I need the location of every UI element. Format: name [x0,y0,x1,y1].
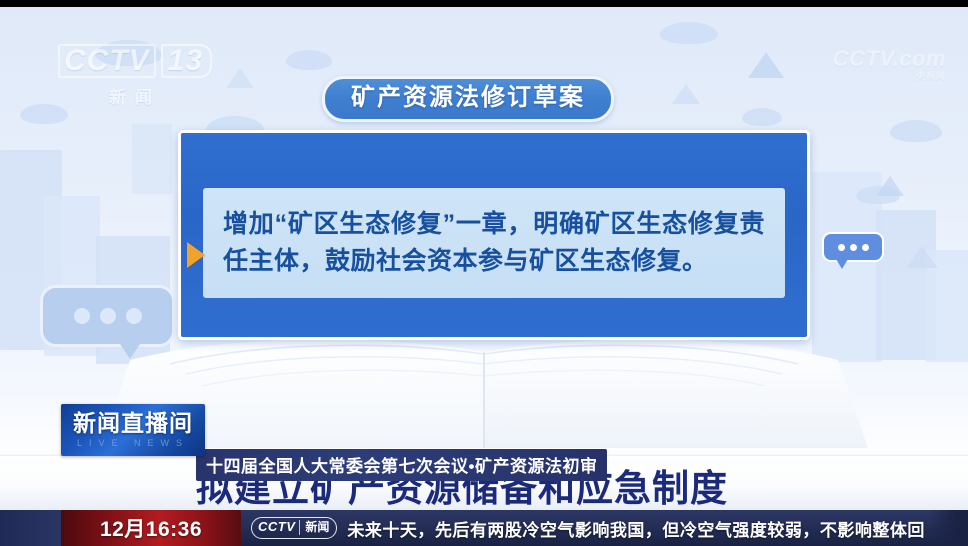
timestamp-label: 12月16:36 [100,513,202,543]
news-ticker: CCTV 新闻 未来十天，先后有两股冷空气影响我国，但冷空气强度较弱，不影响整体… [241,510,968,546]
time-bar-left-spacer [0,510,61,546]
cctv-com-wordmark: CCTV [833,46,893,71]
bubble-dot [126,308,142,324]
bubble-dot [838,244,845,251]
channel-name-label: 新闻 [58,83,212,108]
content-card-body: 增加“矿区生态修复”一章，明确矿区生态修复责任主体，鼓励社会资本参与矿区生态修复… [223,206,765,280]
cctv13-logo-row: CCTV 13 [58,44,212,78]
bubble-dot [74,308,90,324]
cctv-wordmark: CCTV [58,44,156,78]
bubble-dot [850,244,857,251]
content-card: 增加“矿区生态修复”一章，明确矿区生态修复责任主体，鼓励社会资本参与矿区生态修复… [178,130,810,340]
broadcast-screen: CCTV 13 新闻 CCTV.com 央视网 矿产资源法修订草案 增加“矿区生… [0,0,968,546]
cctv13-watermark-icon: CCTV 13 新闻 [58,44,212,108]
ticker-fade [930,510,968,546]
cctv-com-suffix: .com [893,46,946,71]
bubble-tail [836,259,848,269]
bubble-dot [100,308,116,324]
cctv-com-watermark-icon: CCTV.com 央视网 [833,46,946,82]
cctv-com-sub: 央视网 [833,69,946,82]
program-name-en: LIVE NEWS [77,439,189,448]
bubble-dot [862,244,869,251]
ticker-cctv-news-logo-icon: CCTV 新闻 [251,517,337,538]
ticker-text: 未来十天，先后有两股冷空气影响我国，但冷空气强度较弱，不影响整体回 [347,516,925,541]
content-card-inner-panel: 增加“矿区生态修复”一章，明确矿区生态修复责任主体，鼓励社会资本参与矿区生态修复… [203,188,785,298]
topic-pill-label: 矿产资源法修订草案 [351,84,585,111]
lower-third-kicker-label: 十四届全国人大常委会第七次会议•矿产资源法初审 [206,457,597,476]
ticker-news-label: 新闻 [299,520,329,535]
ticker-cctv-wordmark: CCTV [258,519,295,535]
open-book-graphic [90,330,878,448]
decorative-speech-bubble-small [822,232,884,262]
topic-pill: 矿产资源法修订草案 [322,76,614,122]
time-bar: 12月16:36 [61,510,241,546]
letterbox-top [0,0,968,7]
channel-number: 13 [161,44,212,78]
lower-third-kicker: 十四届全国人大常委会第七次会议•矿产资源法初审 [196,449,607,481]
orange-arrow-marker-icon [187,242,205,268]
program-name-cn: 新闻直播间 [73,412,193,435]
program-logo: 新闻直播间 LIVE NEWS [61,404,205,456]
